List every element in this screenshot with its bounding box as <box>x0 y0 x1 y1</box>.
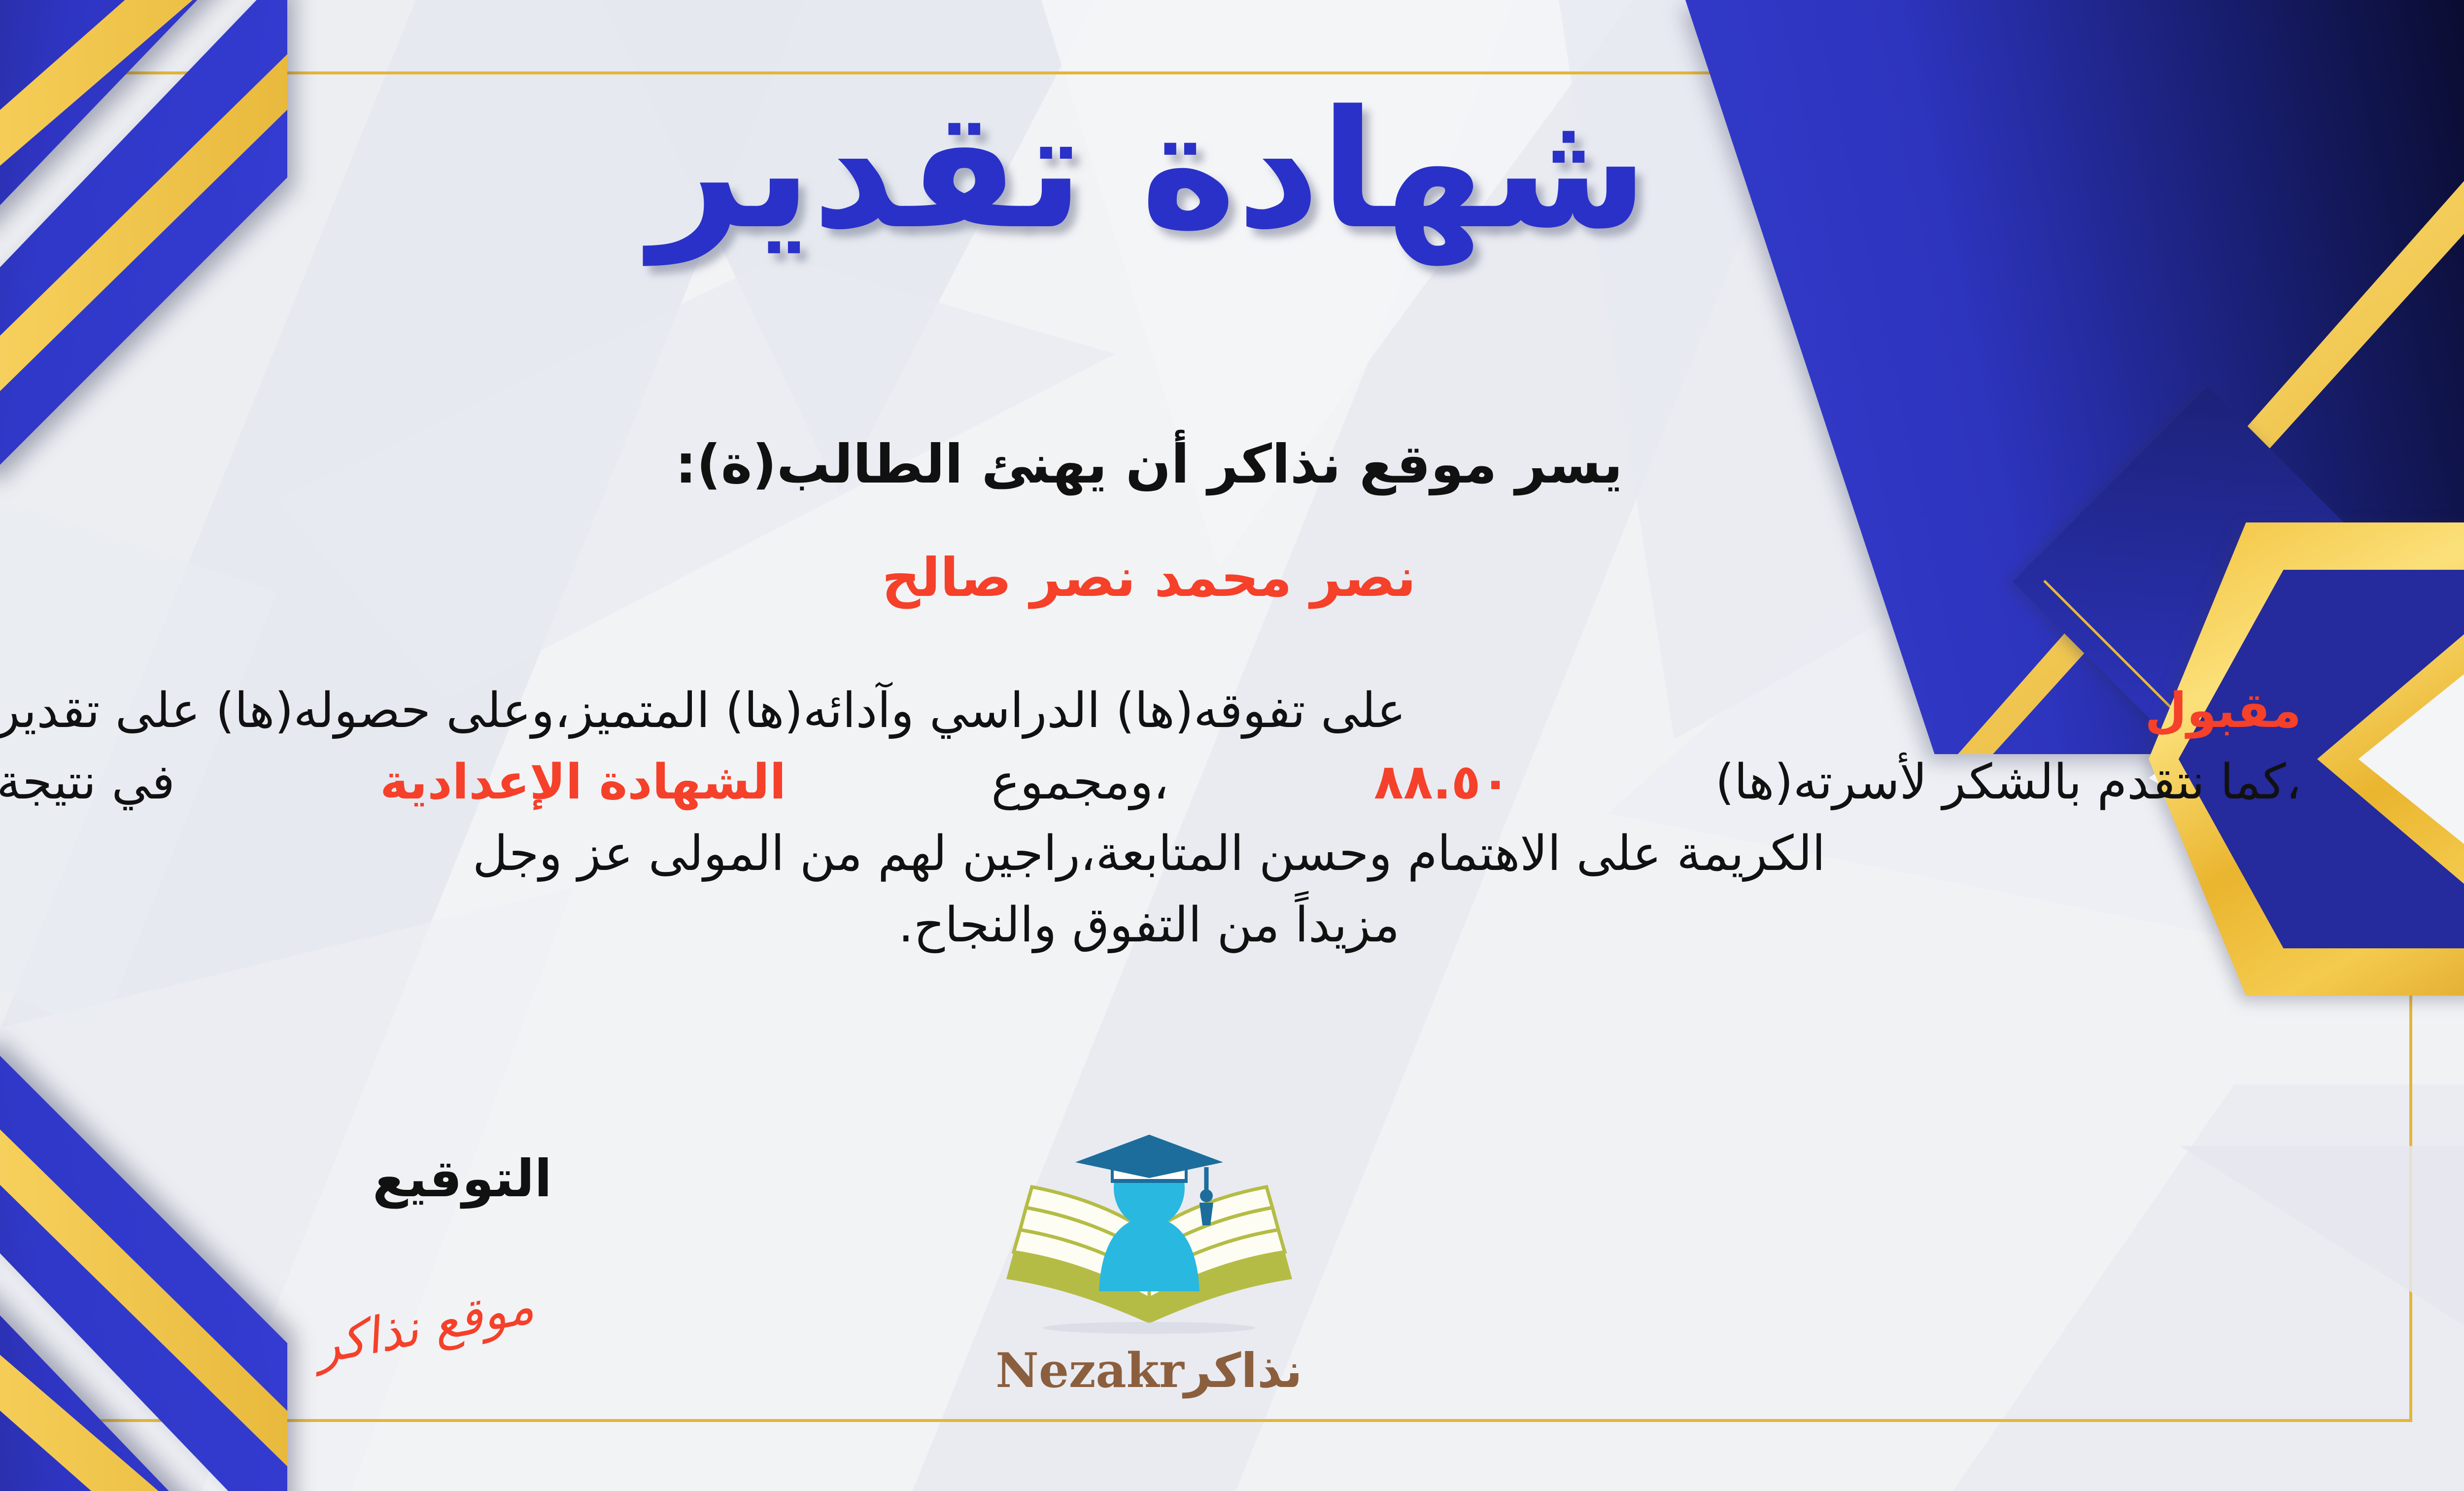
certificate-title: شهادة تقدير <box>0 89 2464 251</box>
body-line-2-head: في نتيجة <box>0 747 175 818</box>
body-line-1: مقبول على تفوقه(ها) الدراسي وآدائه(ها) ا… <box>0 675 2301 747</box>
bottom-left-chevron-ornament <box>0 998 287 1491</box>
signature-label: التوقيع <box>373 1148 552 1209</box>
site-logo: Nezakrنذاكر <box>977 1129 1322 1424</box>
body-line-4: مزيداً من التفوق والنجاح. <box>0 890 2301 961</box>
certificate-body: مقبول على تفوقه(ها) الدراسي وآدائه(ها) ا… <box>0 675 2301 961</box>
bottom-right-wedge-ornament <box>2020 1146 2464 1491</box>
certificate-canvas: شهادة تقدير يسر موقع نذاكر أن يهنئ الطال… <box>0 0 2464 1491</box>
body-line-3: الكريمة على الاهتمام وحسن المتابعة،راجين… <box>0 818 2301 890</box>
signature-mark: موقع نذاكر <box>310 1277 538 1376</box>
grade-value: مقبول <box>2145 675 2301 747</box>
congratulation-intro-text: يسر موقع نذاكر أن يهنئ الطالب(ة): <box>0 434 2464 495</box>
body-line-2-tail: ،كما نتقدم بالشكر لأسرته(ها) <box>1715 747 2301 818</box>
logo-name-arabic: نذاكر <box>1184 1343 1302 1398</box>
certificate-type-value: الشهادة الإعدادية <box>380 747 786 818</box>
body-line-2: ،كما نتقدم بالشكر لأسرته(ها) ٨٨.٥٠ ،ومجم… <box>0 747 2301 818</box>
body-line-1-text: على تفوقه(ها) الدراسي وآدائه(ها) المتميز… <box>0 675 1406 747</box>
student-name: نصر محمد نصر صالح <box>0 547 2464 609</box>
logo-wordmark: Nezakrنذاكر <box>977 1343 1322 1398</box>
graduate-book-icon <box>977 1129 1322 1341</box>
background-facet <box>1953 1084 2464 1491</box>
total-score-value: ٨٨.٥٠ <box>1374 747 1510 818</box>
body-line-2-mid: ،ومجموع <box>991 747 1168 818</box>
logo-name-latin: Nezakr <box>995 1343 1184 1398</box>
